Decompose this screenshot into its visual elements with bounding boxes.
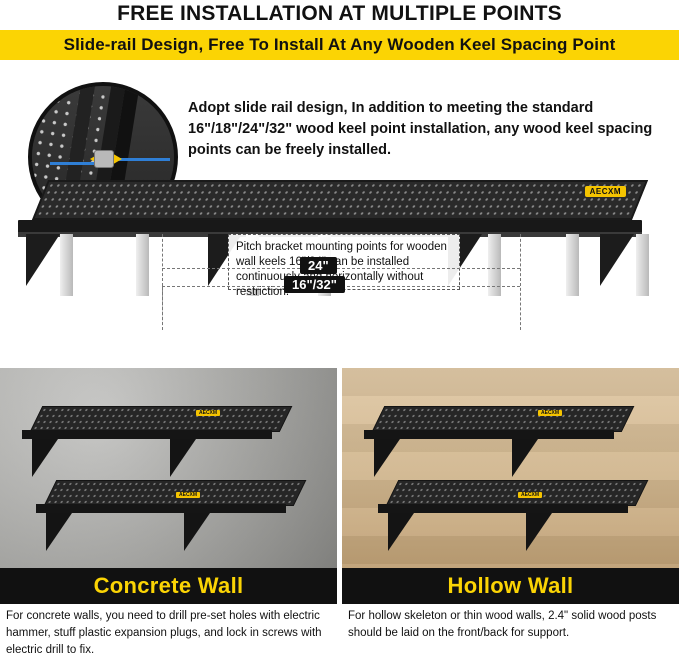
- shelf-bracket: [184, 513, 210, 551]
- caption-concrete: Concrete Wall: [0, 568, 337, 604]
- shelf-front-edge: [36, 504, 286, 513]
- brand-tag: AECXM: [176, 492, 200, 498]
- shelf-bracket: [374, 439, 400, 477]
- dimension-guide: [162, 286, 163, 330]
- shelf-bracket: [26, 234, 60, 286]
- comparison-panels: AECXM AECXM Concrete Wall For concrete w…: [0, 368, 679, 670]
- hero-paragraph: Adopt slide rail design, In addition to …: [188, 98, 674, 161]
- subtitle-text: Slide-rail Design, Free To Install At An…: [0, 30, 679, 60]
- wall-keel-post: [136, 234, 149, 296]
- shelf-bracket: [46, 513, 72, 551]
- shelf-bracket: [600, 234, 634, 286]
- subtitle-banner: Slide-rail Design, Free To Install At An…: [0, 30, 679, 60]
- panel-concrete-wall: AECXM AECXM Concrete Wall For concrete w…: [0, 368, 337, 670]
- shelf-bracket: [170, 439, 196, 477]
- dimension-label-16-32: 16"/32": [284, 276, 345, 293]
- shelf-front-edge: [378, 504, 628, 513]
- description-concrete: For concrete walls, you need to drill pr…: [0, 608, 337, 659]
- caption-hollow: Hollow Wall: [342, 568, 679, 604]
- rail-guide-line-right: [118, 158, 170, 161]
- shelf-bracket: [526, 513, 552, 551]
- brand-tag: AECXM: [518, 492, 542, 498]
- shelf-bracket: [388, 513, 414, 551]
- brand-tag: AECXM: [585, 186, 626, 197]
- shelf-mesh-surface: [44, 480, 307, 506]
- wall-keel-post: [566, 234, 579, 296]
- hero-illustration: Adopt slide rail design, In addition to …: [0, 62, 679, 368]
- wall-keel-post: [60, 234, 73, 296]
- dimension-label-24: 24": [300, 257, 337, 274]
- caption-band-hollow: Hollow Wall: [342, 568, 679, 604]
- shelf-mesh-surface: [372, 406, 635, 432]
- shelf-front-edge: [364, 430, 614, 439]
- bolt-head-icon: [94, 150, 114, 168]
- wall-keel-post: [636, 234, 649, 296]
- panel-hollow-wall: AECXM AECXM Hollow Wall For hollow skele…: [342, 368, 679, 670]
- shelf-mesh-surface: [386, 480, 649, 506]
- brand-tag: AECXM: [196, 410, 220, 416]
- photo-concrete-wall: AECXM AECXM: [0, 368, 337, 568]
- dimension-line-top: [162, 268, 520, 269]
- caption-band-concrete: Concrete Wall: [0, 568, 337, 604]
- dimension-guide: [520, 234, 521, 330]
- description-hollow: For hollow skeleton or thin wood walls, …: [342, 608, 679, 642]
- photo-hollow-wall: AECXM AECXM: [342, 368, 679, 568]
- shelf-front-edge: [22, 430, 272, 439]
- shelf-bracket: [512, 439, 538, 477]
- brand-tag: AECXM: [538, 410, 562, 416]
- shelf-bracket: [32, 439, 58, 477]
- product-infographic: FREE INSTALLATION AT MULTIPLE POINTS Sli…: [0, 0, 679, 670]
- page-title: FREE INSTALLATION AT MULTIPLE POINTS: [0, 2, 679, 26]
- shelf-mesh-surface: [32, 180, 648, 220]
- shelf-mesh-surface: [30, 406, 293, 432]
